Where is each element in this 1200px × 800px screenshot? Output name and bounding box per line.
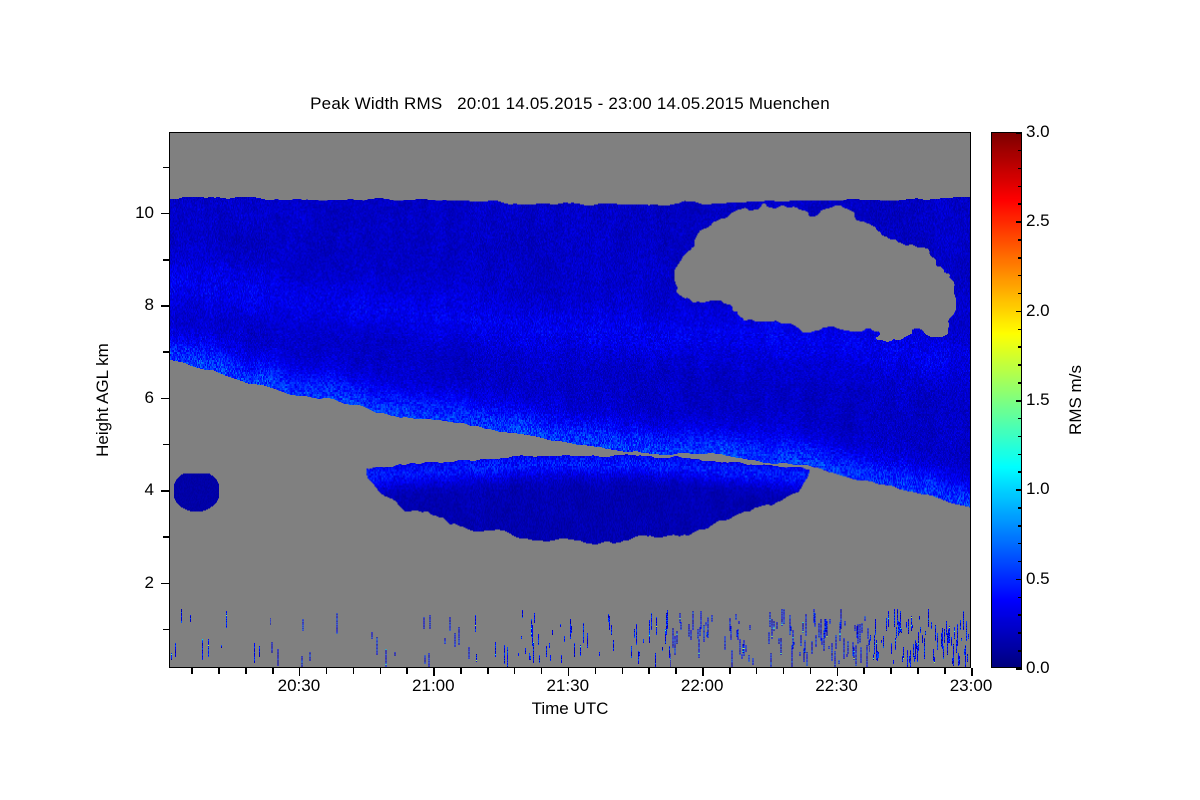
x-tick-label: 21:00 <box>412 676 455 696</box>
colorbar-tick <box>1016 668 1022 670</box>
x-tick-label: 22:30 <box>815 676 858 696</box>
y-tick <box>161 583 169 585</box>
x-minor-tick <box>675 668 677 674</box>
y-tick-label: 10 <box>135 203 154 223</box>
colorbar-tick <box>1016 132 1022 134</box>
colorbar-minor-tick <box>1018 632 1022 634</box>
colorbar-tick <box>1016 221 1022 223</box>
heatmap-canvas <box>170 133 970 667</box>
colorbar-minor-tick <box>1018 614 1022 616</box>
colorbar-minor-tick <box>1018 597 1022 599</box>
x-minor-tick <box>218 668 220 674</box>
colorbar-tick <box>1016 579 1022 581</box>
page-title: Peak Width RMS 20:01 14.05.2015 - 23:00 … <box>0 94 1140 114</box>
x-tick <box>568 668 570 676</box>
x-minor-tick <box>648 668 650 674</box>
colorbar-minor-tick <box>1018 543 1022 545</box>
heatmap-plot-area[interactable] <box>169 132 971 668</box>
x-minor-tick <box>353 668 355 674</box>
x-tick <box>433 668 435 676</box>
x-minor-tick <box>487 668 489 674</box>
y-tick-label: 8 <box>145 295 154 315</box>
colorbar-tick <box>1016 311 1022 313</box>
colorbar-minor-tick <box>1018 436 1022 438</box>
colorbar-tick-label: 1.0 <box>1026 479 1050 499</box>
colorbar-minor-tick <box>1018 507 1022 509</box>
x-axis-title: Time UTC <box>169 699 971 719</box>
y-minor-tick <box>163 259 169 261</box>
x-minor-tick <box>917 668 919 674</box>
x-minor-tick <box>541 668 543 674</box>
colorbar-tick-label: 0.5 <box>1026 569 1050 589</box>
x-minor-tick <box>460 668 462 674</box>
x-minor-tick <box>326 668 328 674</box>
y-tick <box>161 305 169 307</box>
colorbar-minor-tick <box>1018 150 1022 152</box>
colorbar-minor-tick <box>1018 364 1022 366</box>
colorbar-minor-tick <box>1018 203 1022 205</box>
x-minor-tick <box>729 668 731 674</box>
figure-root: Peak Width RMS 20:01 14.05.2015 - 23:00 … <box>0 0 1200 800</box>
y-axis-title: Height AGL km <box>93 343 113 457</box>
colorbar-tick-label: 3.0 <box>1026 122 1050 142</box>
y-minor-tick <box>163 536 169 538</box>
colorbar-minor-tick <box>1018 418 1022 420</box>
colorbar-minor-tick <box>1018 525 1022 527</box>
colorbar-minor-tick <box>1018 650 1022 652</box>
x-tick-label: 23:00 <box>950 676 993 696</box>
y-minor-tick <box>163 351 169 353</box>
x-minor-tick <box>380 668 382 674</box>
x-tick-label: 20:30 <box>278 676 321 696</box>
y-minor-tick <box>163 167 169 169</box>
colorbar-minor-tick <box>1018 239 1022 241</box>
colorbar-tick <box>1016 400 1022 402</box>
x-minor-tick <box>595 668 597 674</box>
y-tick-label: 4 <box>145 480 154 500</box>
colorbar-tick <box>1016 489 1022 491</box>
x-minor-tick <box>622 668 624 674</box>
colorbar-minor-tick <box>1018 561 1022 563</box>
colorbar-minor-tick <box>1018 382 1022 384</box>
colorbar-minor-tick <box>1018 275 1022 277</box>
y-minor-tick <box>163 629 169 631</box>
colorbar-minor-tick <box>1018 471 1022 473</box>
y-minor-tick <box>163 444 169 446</box>
x-tick <box>837 668 839 676</box>
colorbar-tick-label: 2.5 <box>1026 211 1050 231</box>
colorbar-tick-label: 0.0 <box>1026 658 1050 678</box>
colorbar-tick-label: 2.0 <box>1026 301 1050 321</box>
y-tick <box>161 398 169 400</box>
x-minor-tick <box>245 668 247 674</box>
x-minor-tick <box>783 668 785 674</box>
y-tick-label: 2 <box>145 573 154 593</box>
y-tick <box>161 213 169 215</box>
colorbar-minor-tick <box>1018 257 1022 259</box>
colorbar-minor-tick <box>1018 454 1022 456</box>
x-minor-tick <box>272 668 274 674</box>
colorbar-minor-tick <box>1018 346 1022 348</box>
colorbar-minor-tick <box>1018 329 1022 331</box>
x-minor-tick <box>810 668 812 674</box>
colorbar-minor-tick <box>1018 293 1022 295</box>
x-minor-tick <box>406 668 408 674</box>
x-tick-label: 21:30 <box>546 676 589 696</box>
x-minor-tick <box>514 668 516 674</box>
x-minor-tick <box>944 668 946 674</box>
colorbar-minor-tick <box>1018 186 1022 188</box>
x-minor-tick <box>191 668 193 674</box>
y-tick <box>161 490 169 492</box>
x-minor-tick <box>890 668 892 674</box>
x-tick <box>702 668 704 676</box>
x-minor-tick <box>756 668 758 674</box>
colorbar-minor-tick <box>1018 168 1022 170</box>
colorbar-tick-label: 1.5 <box>1026 390 1050 410</box>
x-tick-label: 22:00 <box>681 676 724 696</box>
x-tick <box>299 668 301 676</box>
y-tick-label: 6 <box>145 388 154 408</box>
colorbar-title: RMS m/s <box>1066 365 1086 435</box>
x-minor-tick <box>863 668 865 674</box>
x-tick <box>971 668 973 676</box>
